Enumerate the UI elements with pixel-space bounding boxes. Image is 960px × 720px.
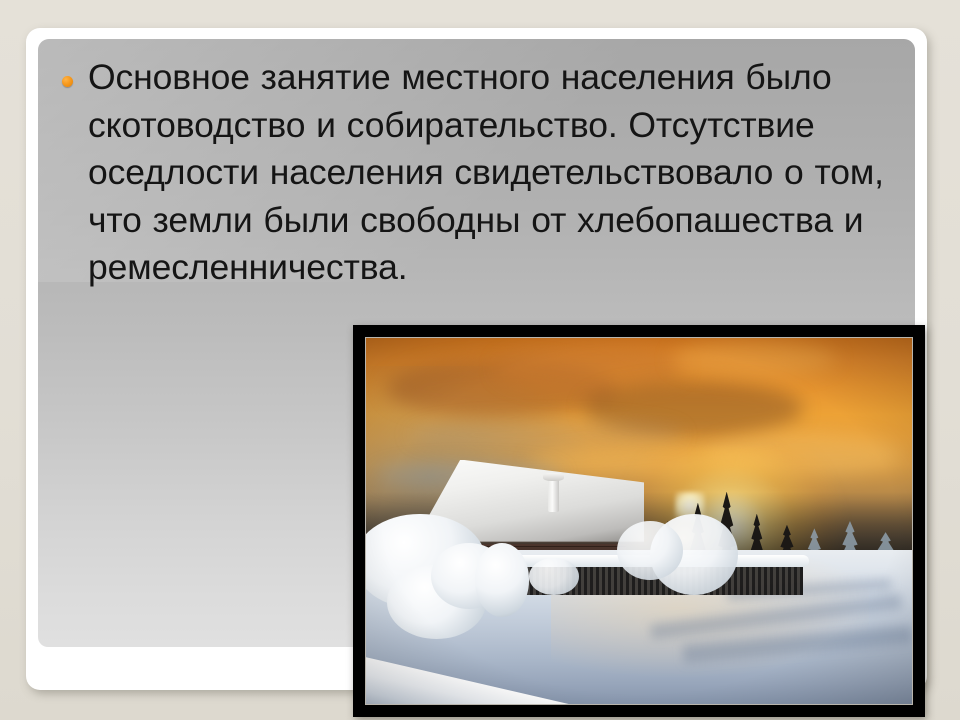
photo-bent-frost-tree: [617, 521, 683, 580]
photo-foreground-frost-bush: [529, 558, 578, 595]
bullet-item-text: Основное занятие местного населения было…: [88, 54, 891, 292]
bullet-dot-icon: [62, 76, 73, 87]
winter-sunset-house-photo-frame[interactable]: [353, 325, 925, 717]
winter-sunset-house-photo: [365, 337, 913, 705]
photo-chimney-cap: [543, 473, 564, 481]
bullet-list: Основное занятие местного населения было…: [62, 54, 891, 292]
list-item[interactable]: Основное занятие местного населения было…: [62, 54, 891, 292]
photo-chimney: [548, 478, 560, 512]
slide-root: Основное занятие местного населения было…: [0, 0, 960, 720]
photo-cloud: [409, 418, 683, 451]
photo-bent-frost-tree: [475, 543, 530, 617]
